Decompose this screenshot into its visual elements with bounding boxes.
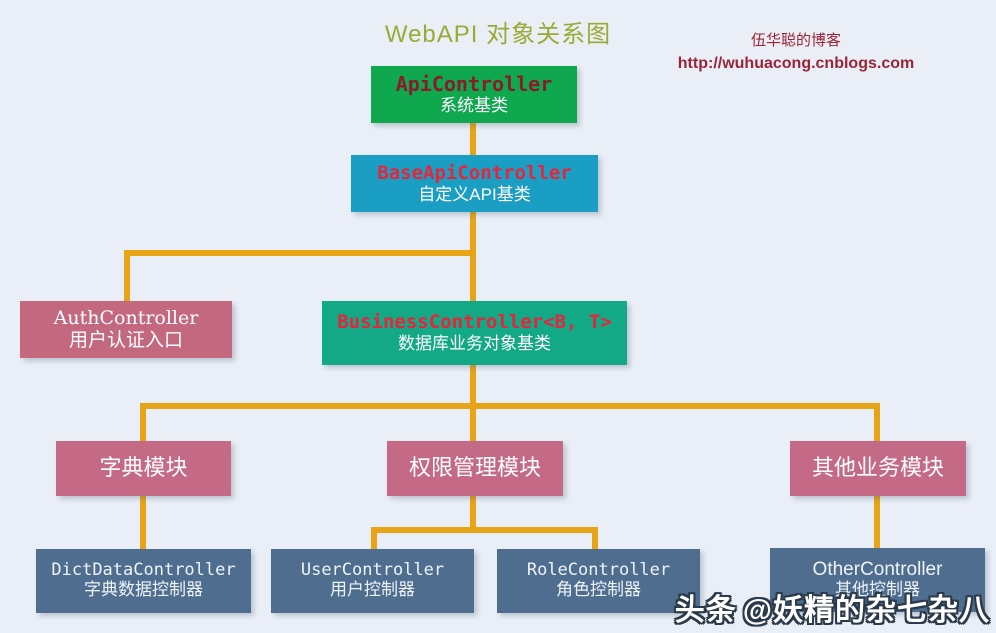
connector-dict-to-dictdata	[140, 495, 146, 550]
node-other-module-label: 其他业务模块	[812, 456, 944, 481]
connector-base-branch-horizontal	[124, 250, 476, 256]
connector-permission-horizontal	[371, 527, 598, 533]
platform-watermark: 头条@妖精的杂七杂八	[675, 585, 990, 629]
connector-auth-drop	[124, 250, 130, 301]
blog-url: http://wuhuacong.cnblogs.com	[646, 52, 946, 75]
connector-modules-horizontal	[140, 403, 880, 409]
blog-name: 伍华聪的博客	[646, 30, 946, 52]
platform-watermark-name: 头条	[675, 594, 737, 627]
node-permission-module-label: 权限管理模块	[409, 456, 541, 481]
node-role-controller-code: RoleController	[527, 561, 670, 581]
node-dict-data-controller-code: DictDataController	[51, 561, 235, 581]
node-business-controller-code: BusinessController<B, T>	[337, 312, 612, 334]
node-user-controller-desc: 用户控制器	[330, 581, 415, 601]
node-user-controller[interactable]: UserController 用户控制器	[271, 549, 474, 613]
node-base-api-controller-desc: 自定义API基类	[418, 185, 530, 205]
node-dict-data-controller[interactable]: DictDataController 字典数据控制器	[36, 549, 251, 613]
connector-othermodule-to-othercontroller	[874, 495, 880, 548]
connector-permission-trunk	[470, 495, 476, 531]
node-api-controller-code: ApiController	[396, 73, 553, 96]
connector-role-drop	[592, 527, 598, 550]
node-role-controller-desc: 角色控制器	[556, 581, 641, 601]
node-base-api-controller-code: BaseApiController	[377, 163, 571, 185]
node-business-controller[interactable]: BusinessController<B, T> 数据库业务对象基类	[322, 301, 627, 365]
node-permission-module[interactable]: 权限管理模块	[387, 441, 563, 496]
node-base-api-controller[interactable]: BaseApiController 自定义API基类	[351, 155, 598, 212]
node-api-controller[interactable]: ApiController 系统基类	[371, 66, 577, 123]
connector-other-module-drop	[874, 403, 880, 441]
node-other-module[interactable]: 其他业务模块	[790, 441, 966, 496]
node-user-controller-code: UserController	[301, 561, 444, 581]
platform-watermark-account: @妖精的杂七杂八	[743, 594, 990, 627]
node-dict-data-controller-desc: 字典数据控制器	[84, 581, 203, 601]
node-auth-controller-desc: 用户认证入口	[69, 330, 183, 352]
node-auth-controller[interactable]: AuthController 用户认证入口	[20, 301, 232, 358]
node-auth-controller-code: AuthController	[54, 308, 199, 330]
connector-api-to-base	[470, 122, 476, 155]
connector-user-drop	[371, 527, 377, 550]
diagram-canvas: WebAPI 对象关系图 伍华聪的博客 http://wuhuacong.cnb…	[0, 0, 996, 633]
connector-base-trunk	[470, 211, 476, 304]
node-dict-module-label: 字典模块	[99, 456, 187, 481]
node-role-controller[interactable]: RoleController 角色控制器	[497, 549, 700, 613]
node-dict-module[interactable]: 字典模块	[56, 441, 231, 496]
node-business-controller-desc: 数据库业务对象基类	[398, 334, 551, 354]
node-api-controller-desc: 系统基类	[440, 96, 508, 116]
node-other-controller-code: OtherController	[813, 559, 943, 581]
blog-watermark: 伍华聪的博客 http://wuhuacong.cnblogs.com	[646, 30, 946, 75]
connector-dict-module-drop	[140, 403, 146, 441]
